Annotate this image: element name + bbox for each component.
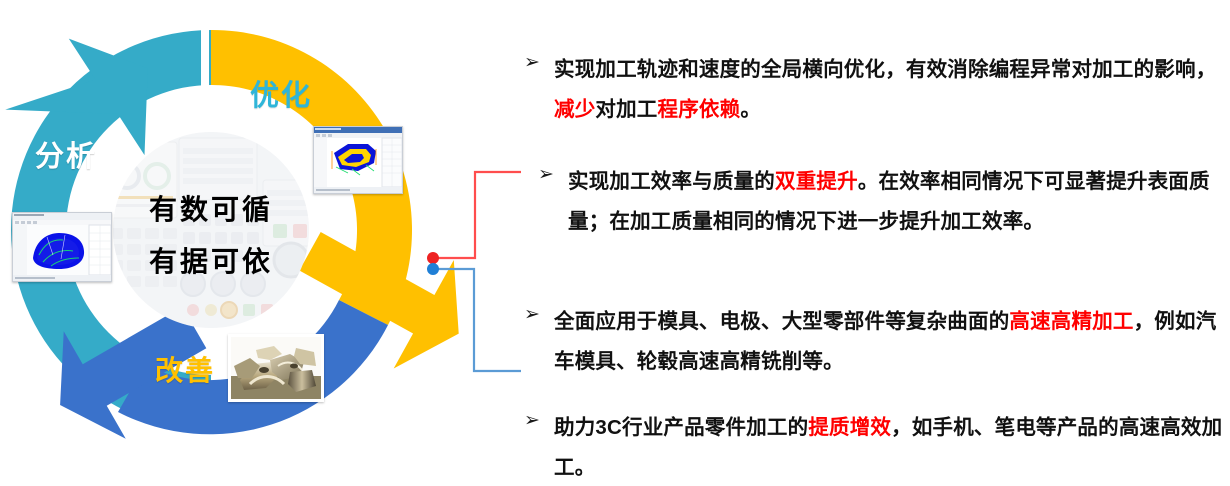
bullet-arrow-icon: ➢	[524, 50, 554, 72]
bullet-arrow-icon: ➢	[524, 408, 554, 430]
highlighted-text: 减少	[554, 98, 595, 121]
bullet-list: ➢ 实现加工轨迹和速度的全局横向优化，有效消除编程异常对加工的影响，减少对加工程…	[524, 0, 1230, 486]
bullet-item-2: ➢ 实现加工效率与质量的双重提升。在效率相同情况下可显著提升表面质量；在加工质量…	[524, 162, 1230, 242]
connector-line-blue	[436, 269, 521, 371]
plain-text: 实现加工效率与质量的	[568, 170, 775, 193]
bullet-text-2: 实现加工效率与质量的双重提升。在效率相同情况下可显著提升表面质量；在加工质量相同…	[568, 162, 1230, 242]
plain-text: 助力3C行业产品零件加工的	[554, 416, 808, 439]
highlighted-text: 双重提升	[775, 170, 858, 193]
highlighted-text: 提质增效	[808, 416, 891, 439]
plain-text: 对加工	[595, 98, 657, 121]
bullet-item-4: ➢ 助力3C行业产品零件加工的提质增效，如手机、笔电等产品的高速高效加工。	[524, 408, 1230, 486]
bullet-text-4: 助力3C行业产品零件加工的提质增效，如手机、笔电等产品的高速高效加工。	[554, 408, 1230, 486]
bullet-text-1: 实现加工轨迹和速度的全局横向优化，有效消除编程异常对加工的影响，减少对加工程序依…	[554, 50, 1230, 130]
highlighted-text: 高速高精加工	[1009, 310, 1133, 333]
plain-text: 。	[740, 98, 761, 121]
bullet-text-3: 全面应用于模具、电极、大型零部件等复杂曲面的高速高精加工，例如汽车模具、轮毂高速…	[554, 302, 1230, 382]
bullet-arrow-icon: ➢	[524, 302, 554, 324]
bullet-arrow-icon: ➢	[538, 162, 568, 184]
connector-line-red	[436, 172, 521, 258]
connector-dot-blue	[427, 263, 439, 275]
slide-canvas: 有数可循 有据可依 分析 优化 改善	[0, 0, 1230, 486]
plain-text: 全面应用于模具、电极、大型零部件等复杂曲面的	[554, 310, 1009, 333]
bullet-item-1: ➢ 实现加工轨迹和速度的全局横向优化，有效消除编程异常对加工的影响，减少对加工程…	[524, 50, 1230, 130]
highlighted-text: 程序依赖	[658, 98, 741, 121]
plain-text: 实现加工轨迹和速度的全局横向优化，有效消除编程异常对加工的影响，	[554, 58, 1216, 81]
bullet-item-3: ➢ 全面应用于模具、电极、大型零部件等复杂曲面的高速高精加工，例如汽车模具、轮毂…	[524, 302, 1230, 382]
connector-dot-red	[427, 252, 439, 264]
